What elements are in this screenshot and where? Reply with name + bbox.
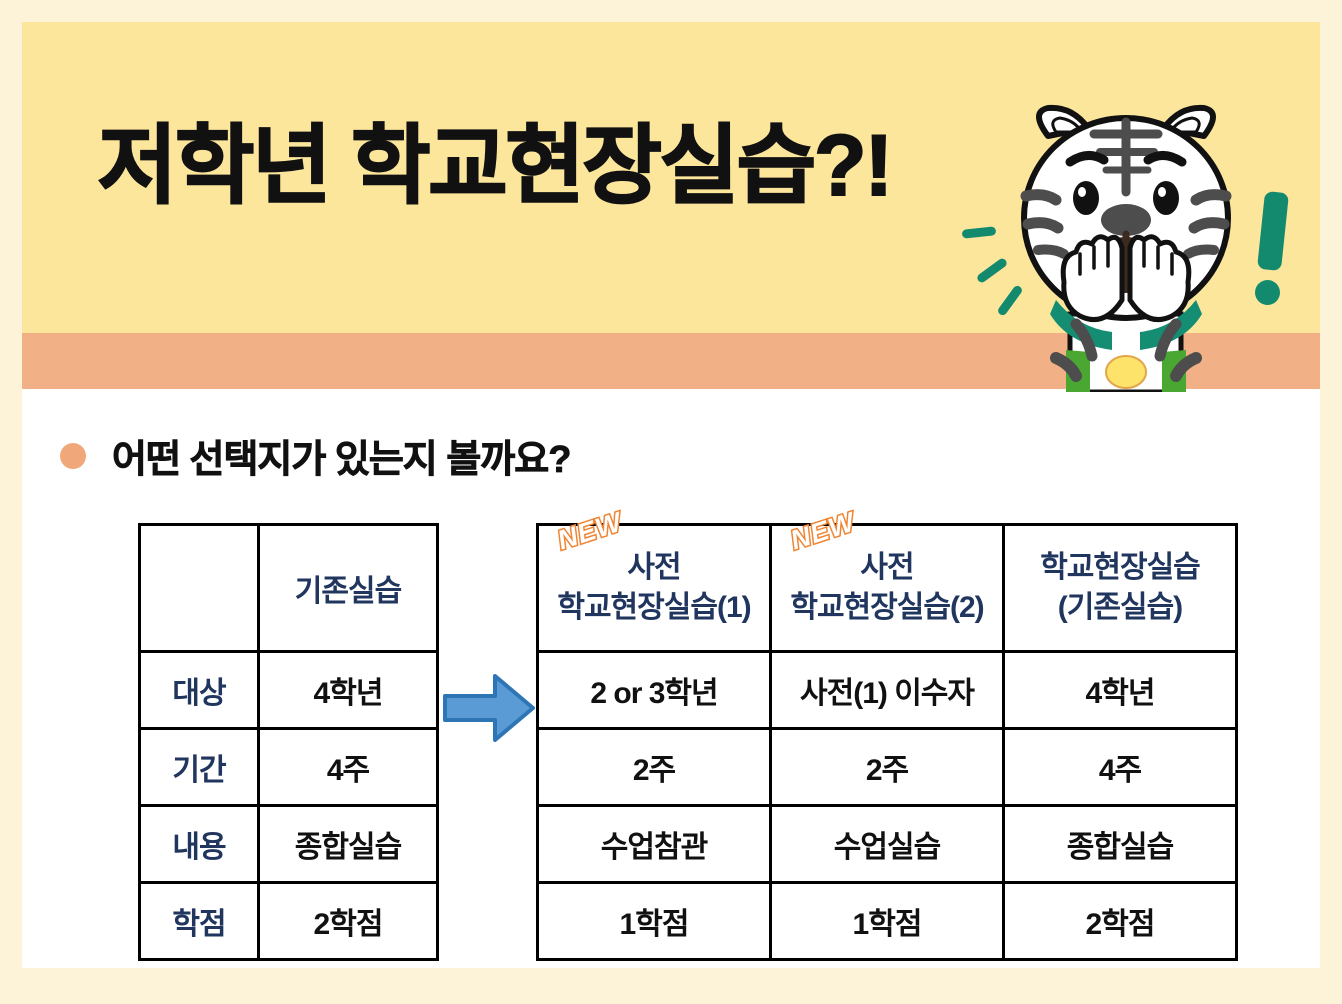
white-tiger-mascot-icon <box>1008 100 1243 392</box>
bullet-row: 어떤 선택지가 있는지 볼까요? <box>60 428 570 483</box>
header-line-2: (기존실습) <box>1058 591 1182 624</box>
table-row: 내용 종합실습 <box>140 806 438 883</box>
bullet-text: 어떤 선택지가 있는지 볼까요? <box>112 428 570 483</box>
header-cell-pre-practicum-2: 사전 학교현장실습(2) <box>771 525 1004 652</box>
table-row: 기존실습 <box>140 525 438 652</box>
cell-credits-value: 1학점 <box>771 883 1004 960</box>
row-label-content: 내용 <box>140 806 259 883</box>
header-line-1: 사전 <box>860 551 913 584</box>
cell-content-value: 종합실습 <box>1004 806 1237 883</box>
table-row: 기간 4주 <box>140 729 438 806</box>
header-cell-pre-practicum-1: 사전 학교현장실습(1) <box>538 525 771 652</box>
header-cell-field-practicum: 학교현장실습 (기존실습) <box>1004 525 1237 652</box>
row-label-credits: 학점 <box>140 883 259 960</box>
cell-target-value: 4학년 <box>259 652 438 729</box>
table-existing-practicum: 기존실습 대상 4학년 기간 4주 내용 종합실습 학점 2학점 <box>138 523 439 961</box>
cell-duration-value: 4주 <box>259 729 438 806</box>
header-line-2: 학교현장실습(1) <box>557 591 750 624</box>
header-line-2: 학교현장실습(2) <box>790 591 983 624</box>
cell-duration-value: 4주 <box>1004 729 1237 806</box>
page-title: 저학년 학교현장실습?! <box>98 118 968 214</box>
corner-cell <box>140 525 259 652</box>
cell-duration-value: 2주 <box>538 729 771 806</box>
table-row: 사전 학교현장실습(1) 사전 학교현장실습(2) 학교현장실습 (기존실습) <box>538 525 1237 652</box>
table-row: 학점 2학점 <box>140 883 438 960</box>
cell-credits-value: 1학점 <box>538 883 771 960</box>
table-row: 수업참관 수업실습 종합실습 <box>538 806 1237 883</box>
bullet-dot-icon <box>60 443 86 469</box>
cell-content-value: 종합실습 <box>259 806 438 883</box>
table-row: 2주 2주 4주 <box>538 729 1237 806</box>
row-label-target: 대상 <box>140 652 259 729</box>
cell-content-value: 수업실습 <box>771 806 1004 883</box>
table-row: 2 or 3학년 사전(1) 이수자 4학년 <box>538 652 1237 729</box>
cell-credits-value: 2학점 <box>259 883 438 960</box>
header-line-1: 사전 <box>627 551 680 584</box>
cell-content-value: 수업참관 <box>538 806 771 883</box>
cell-duration-value: 2주 <box>771 729 1004 806</box>
header-cell-existing: 기존실습 <box>259 525 438 652</box>
cell-target-value: 사전(1) 이수자 <box>771 652 1004 729</box>
transition-arrow-icon <box>443 662 535 754</box>
table-row: 대상 4학년 <box>140 652 438 729</box>
cell-target-value: 4학년 <box>1004 652 1237 729</box>
cell-credits-value: 2학점 <box>1004 883 1237 960</box>
slide-canvas: 저학년 학교현장실습?! <box>0 0 1342 1004</box>
header-line-1: 학교현장실습 <box>1040 551 1200 584</box>
table-row: 1학점 1학점 2학점 <box>538 883 1237 960</box>
exclamation-dot-icon <box>1255 280 1280 305</box>
row-label-duration: 기간 <box>140 729 259 806</box>
table-new-practicum-options: 사전 학교현장실습(1) 사전 학교현장실습(2) 학교현장실습 (기존실습) … <box>536 523 1238 961</box>
cell-target-value: 2 or 3학년 <box>538 652 771 729</box>
